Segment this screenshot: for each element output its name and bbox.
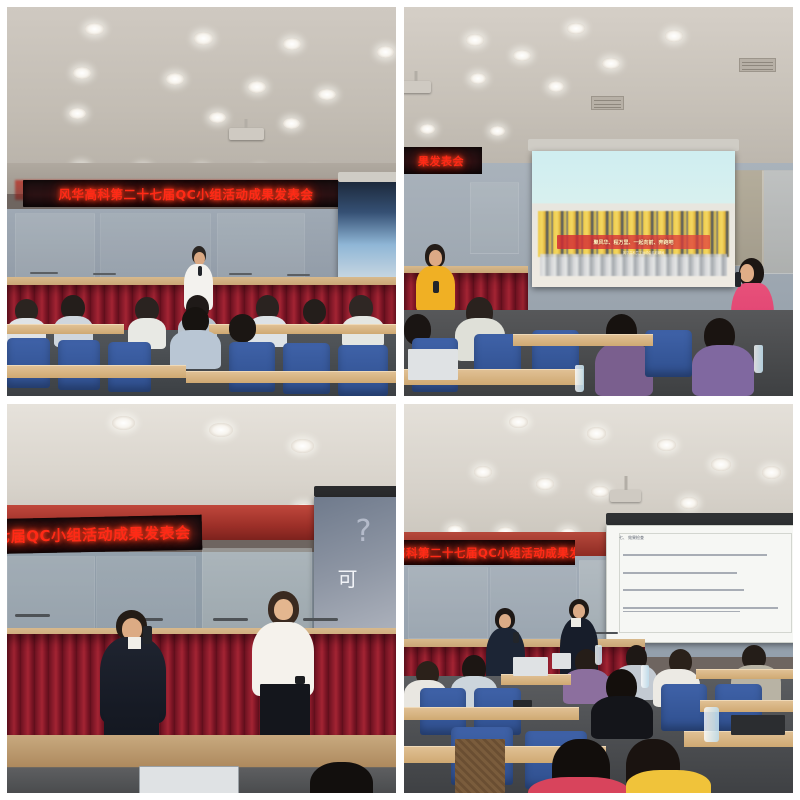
- water-bottle[interactable]: [641, 665, 649, 688]
- ceiling-light: [420, 124, 436, 134]
- audience-desk: [696, 669, 793, 679]
- laptop[interactable]: [513, 657, 548, 676]
- ceiling-light: [112, 416, 135, 430]
- wall-panel: [15, 213, 95, 285]
- event-banner-text: 七届QC小组活动成果发表会: [7, 522, 190, 547]
- screen-case: [606, 513, 793, 525]
- slide-character: 可: [338, 563, 358, 592]
- ceiling-light: [377, 46, 395, 58]
- slide-paragraph: [623, 605, 786, 614]
- ceiling-light: [248, 81, 266, 93]
- ceiling-light: [548, 81, 564, 92]
- event-banner: 风华高科第二十七届QC小组活动成果发表会: [23, 180, 350, 207]
- wall-panel: [7, 556, 95, 636]
- presenter-face-blouse: [274, 599, 293, 620]
- audience-chair[interactable]: [283, 343, 330, 394]
- head-table: [404, 639, 645, 647]
- audience-desk: [404, 707, 579, 720]
- audience-body: [626, 770, 712, 793]
- monitor-screen[interactable]: [139, 766, 238, 793]
- slide-paragraph: [623, 570, 786, 576]
- ceiling-light: [680, 497, 698, 509]
- handheld-microphone: [513, 632, 519, 644]
- handheld-microphone: [143, 626, 152, 644]
- ceiling-light: [711, 458, 730, 470]
- audience-body: [170, 330, 221, 369]
- handbag[interactable]: [455, 739, 506, 793]
- ceiling-light: [85, 23, 104, 35]
- air-vent: [591, 96, 624, 110]
- audience-desk: [186, 371, 396, 384]
- laptop[interactable]: [552, 653, 571, 669]
- ceiling-light: [536, 478, 554, 490]
- audience-head: [303, 299, 326, 324]
- presenter-face-left: [499, 614, 511, 628]
- screen-case: [314, 486, 396, 498]
- laptop[interactable]: [408, 349, 459, 380]
- ceiling-light: [490, 126, 506, 136]
- ceiling-light: [665, 30, 683, 42]
- photo-collage: 风华高科第二十七届QC小组活动成果发表会: [0, 0, 800, 800]
- ceiling-light: [166, 73, 184, 85]
- audience-head: [229, 314, 256, 341]
- projector: [404, 81, 431, 93]
- desk-microphone: [303, 618, 338, 621]
- projector: [229, 128, 264, 140]
- slide-paragraph: [623, 552, 786, 558]
- audience-desk: [513, 334, 653, 347]
- water-bottle[interactable]: [575, 365, 584, 392]
- projection-screen[interactable]: 七、 效果检查: [606, 525, 793, 644]
- audience-body: [591, 696, 653, 739]
- presenter-face-pink: [740, 264, 754, 282]
- photo-top-left[interactable]: 风华高科第二十七届QC小组活动成果发表会: [7, 7, 396, 396]
- clicker[interactable]: [295, 676, 305, 684]
- ceiling-light: [474, 466, 492, 478]
- shirt-collar: [128, 637, 141, 649]
- desk-microphone: [30, 272, 57, 274]
- event-banner-text: 风华高科第二十七届QC小组活动成果发表会: [404, 545, 575, 561]
- handheld-microphone: [198, 266, 203, 276]
- slide-headline-band: 聚风华、程万里、一起向前、奔跑吧: [557, 235, 711, 249]
- presenter-body-suit: [100, 637, 166, 723]
- audience-desk: [7, 365, 186, 378]
- wall-panel: [408, 567, 488, 639]
- ceiling-light: [466, 34, 484, 46]
- handheld-microphone: [735, 272, 741, 288]
- event-banner: 果发表会: [404, 147, 482, 174]
- event-banner-text: 风华高科第二十七届QC小组活动成果发表会: [59, 184, 314, 203]
- ceiling-light: [762, 466, 781, 478]
- wall-panel: [470, 182, 519, 254]
- ceiling-light: [73, 67, 91, 79]
- handheld-microphone: [433, 281, 438, 293]
- projector: [610, 490, 641, 502]
- ceiling-light: [283, 38, 301, 50]
- desk-microphone: [15, 614, 50, 617]
- wall-panel: [731, 170, 764, 265]
- desk-microphone: [287, 274, 310, 276]
- slide-question-mark: ?: [355, 514, 371, 549]
- ceiling-light: [194, 32, 213, 44]
- presenter-face-right: [573, 604, 585, 618]
- audience-body: [528, 777, 629, 793]
- photo-bottom-right[interactable]: 风华高科第二十七届QC小组活动成果发表会 七、 效果检查: [404, 404, 793, 793]
- shirt-collar: [571, 618, 580, 627]
- slide-subline-text: 风华高科员工运动会精彩瞬间: [623, 250, 664, 255]
- audience-chair[interactable]: [7, 338, 50, 389]
- audience-chair[interactable]: [229, 342, 276, 393]
- laptop[interactable]: [731, 715, 785, 734]
- photo-bottom-left[interactable]: 七届QC小组活动成果发表会 ? 可: [7, 404, 396, 793]
- water-bottle[interactable]: [704, 707, 720, 742]
- slide-content-box: [619, 533, 792, 633]
- slide-subline: 风华高科员工运动会精彩瞬间: [597, 250, 690, 255]
- audience-head: [310, 762, 372, 793]
- projection-screen[interactable]: 聚风华、程万里、一起向前、奔跑吧 风华高科员工运动会精彩瞬间: [532, 151, 734, 287]
- phone[interactable]: [513, 700, 532, 708]
- event-banner-text: 果发表会: [418, 153, 464, 169]
- presenter-face-yellow: [429, 250, 442, 266]
- slide-title-text: 七、 效果检查: [619, 535, 644, 541]
- screen-case: [338, 172, 396, 182]
- audience-body: [692, 345, 754, 396]
- audience-desk: [7, 324, 124, 334]
- photo-top-right[interactable]: 果发表会 聚风华、程万里、一起向前、奔跑吧 风华高科员工运动会精彩瞬间: [404, 7, 793, 396]
- slide-paragraph: [623, 587, 786, 593]
- air-vent: [739, 58, 776, 72]
- slide-group-photo-legs: [540, 254, 726, 276]
- ceiling-light: [591, 486, 609, 498]
- event-banner: 七届QC小组活动成果发表会: [7, 515, 202, 555]
- projection-screen: [338, 182, 396, 283]
- stage-curtain: [7, 634, 396, 735]
- water-bottle[interactable]: [595, 645, 602, 664]
- slide-headline-text: 聚风华、程万里、一起向前、奔跑吧: [593, 239, 673, 246]
- wall-panel: [762, 170, 793, 273]
- desk-microphone: [213, 618, 248, 621]
- water-bottle[interactable]: [754, 345, 763, 372]
- event-banner: 风华高科第二十七届QC小组活动成果发表会: [404, 540, 575, 565]
- ceiling-light: [587, 427, 606, 439]
- screen-case: [528, 139, 738, 151]
